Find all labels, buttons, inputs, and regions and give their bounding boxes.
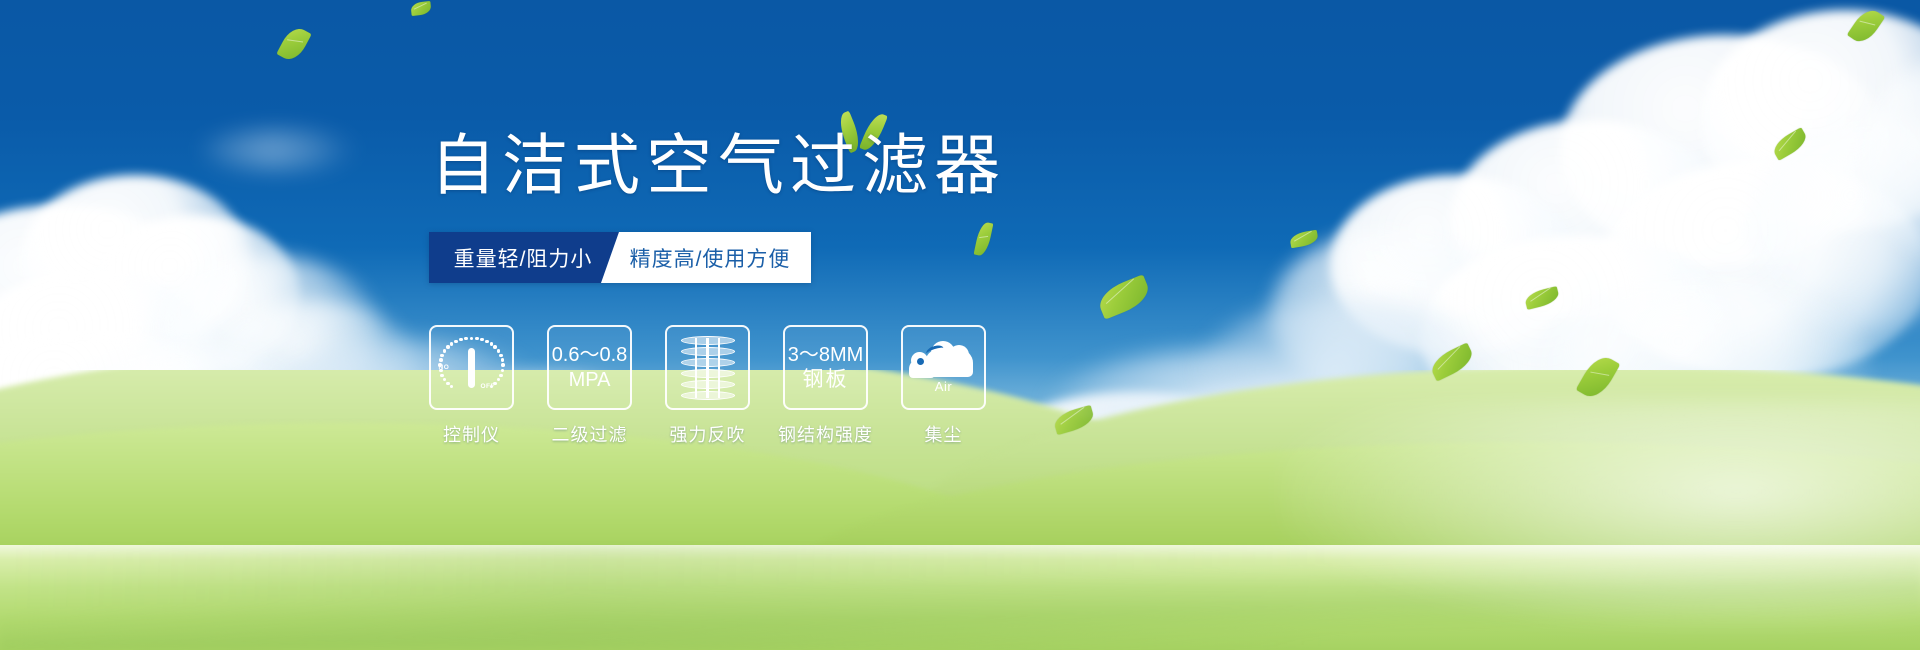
feature-item-steel: 3～8MM 钢板 钢结构强度 — [783, 325, 868, 447]
feature-icon-box: Air — [901, 325, 986, 410]
page-title: 自洁式空气过滤器 — [430, 132, 1006, 198]
filter-stack-icon — [681, 336, 735, 400]
banner-content: 自洁式空气过滤器 重量轻/阻力小 精度高/使用方便 — [0, 0, 1920, 650]
gauge-min-label: NO — [439, 364, 450, 371]
feature-icon-box — [665, 325, 750, 410]
feature-item-dust: Air 集尘 — [901, 325, 986, 447]
gauge-max-label: OFF — [481, 383, 496, 390]
feature-label: 集尘 — [925, 421, 963, 447]
feature-label: 控制仪 — [443, 421, 500, 447]
feature-icon-box: NO OFF — [429, 325, 514, 410]
steel-text-icon: 3～8MM 钢板 — [788, 343, 864, 393]
feature-label: 钢结构强度 — [778, 421, 873, 447]
feature-item-blowback: 强力反吹 — [665, 325, 750, 447]
tagline-secondary: 精度高/使用方便 — [601, 232, 811, 283]
hero-banner: 自洁式空气过滤器 重量轻/阻力小 精度高/使用方便 — [0, 0, 1920, 650]
feature-value-line2: MPA — [552, 368, 628, 392]
feature-value-line2: 钢板 — [788, 367, 864, 393]
feature-icon-box: 3～8MM 钢板 — [783, 325, 868, 410]
feature-value-line1: 3～8MM — [788, 343, 864, 367]
feature-item-controller: NO OFF 控制仪 — [429, 325, 514, 447]
cloud-air-icon: Air — [909, 337, 979, 399]
tagline-group: 重量轻/阻力小 精度高/使用方便 — [429, 232, 811, 283]
tagline-primary: 重量轻/阻力小 — [429, 232, 619, 283]
gauge-icon: NO OFF — [440, 336, 504, 400]
feature-list: NO OFF 控制仪 0.6～0.8 MPA 二级过滤 — [429, 325, 986, 447]
feature-item-pressure: 0.6～0.8 MPA 二级过滤 — [547, 325, 632, 447]
feature-icon-box: 0.6～0.8 MPA — [547, 325, 632, 410]
feature-label: 强力反吹 — [670, 421, 746, 447]
feature-label: 二级过滤 — [552, 421, 628, 447]
cloud-air-label: Air — [909, 379, 979, 394]
pressure-text-icon: 0.6～0.8 MPA — [552, 343, 628, 392]
feature-value-line1: 0.6～0.8 — [552, 343, 628, 367]
